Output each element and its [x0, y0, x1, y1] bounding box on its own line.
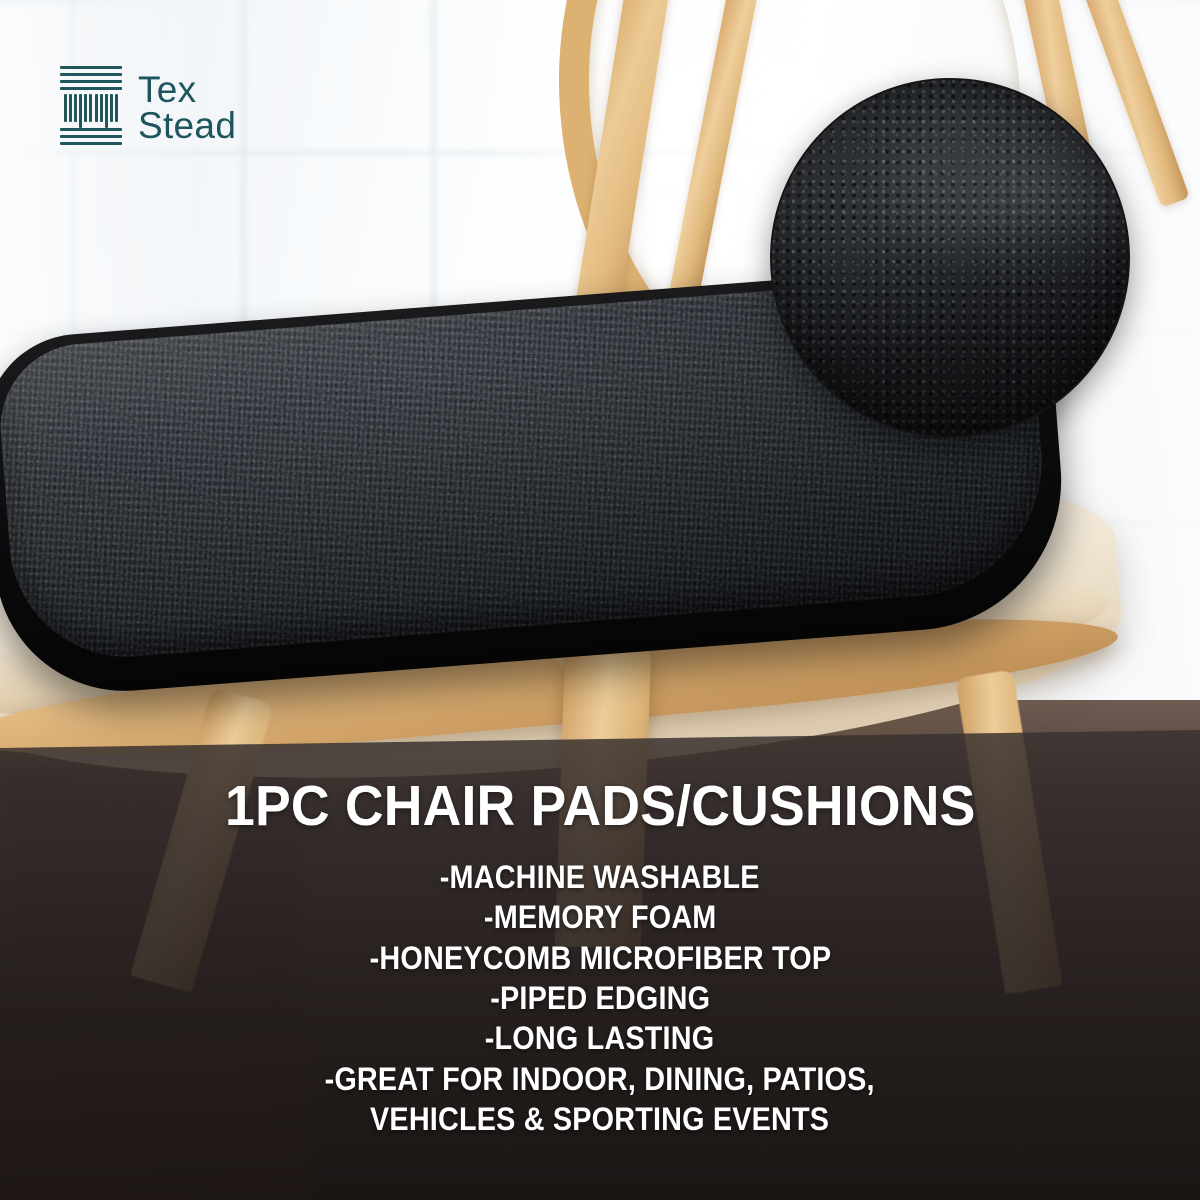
feature-item: -HONEYCOMB MICROFIBER TOP	[369, 938, 831, 978]
feature-item: -MACHINE WASHABLE	[440, 857, 760, 897]
product-marketing-image: Tex Stead 1PC CHAIR PADS/CUSHIONS -MACHI…	[0, 0, 1200, 1200]
feature-item: -MEMORY FOAM	[484, 897, 717, 937]
brand-name: Tex Stead	[138, 72, 236, 143]
brand-name-line2: Stead	[138, 108, 236, 144]
marketing-copy: 1PC CHAIR PADS/CUSHIONS -MACHINE WASHABL…	[0, 730, 1200, 1200]
fabric-closeup-circle	[770, 78, 1130, 438]
brand-logo[interactable]: Tex Stead	[60, 66, 236, 150]
page-title: 1PC CHAIR PADS/CUSHIONS	[225, 778, 976, 835]
brand-name-line1: Tex	[138, 72, 236, 108]
feature-item: -PIPED EDGING	[490, 978, 710, 1018]
fabric-closeup-shading	[772, 80, 1128, 436]
feature-item: -GREAT FOR INDOOR, DINING, PATIOS, VEHIC…	[325, 1059, 875, 1140]
woven-textile-stripes-logo-mark	[60, 66, 122, 150]
feature-item: -LONG LASTING	[485, 1018, 715, 1058]
feature-list: -MACHINE WASHABLE -MEMORY FOAM -HONEYCOM…	[294, 857, 905, 1139]
